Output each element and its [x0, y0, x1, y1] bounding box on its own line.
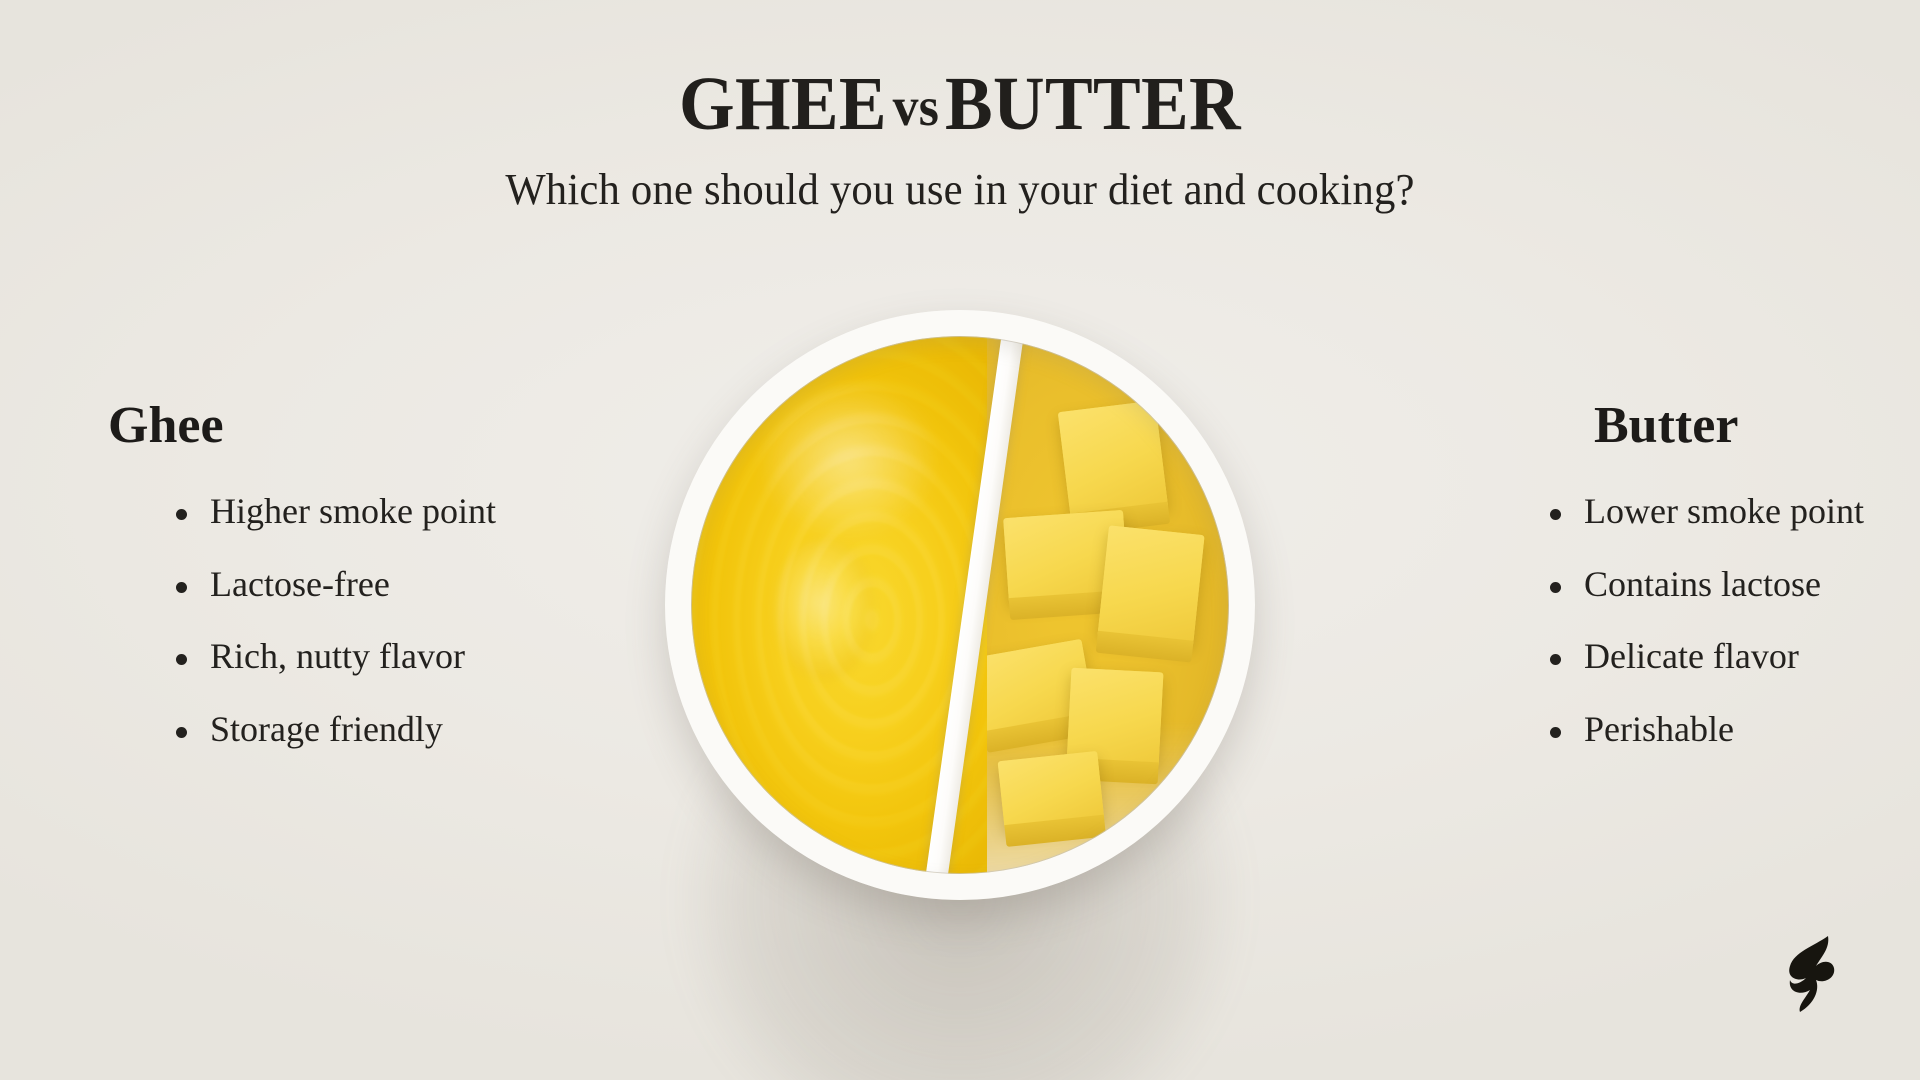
list-item-label: Storage friendly: [210, 709, 443, 749]
bowl-interior: [691, 336, 1229, 874]
bullet-dot-icon: [176, 727, 187, 738]
list-item: Perishable: [1542, 710, 1812, 750]
list-item: Rich, nutty flavor: [168, 637, 668, 677]
header: GHEEvsBUTTER Which one should you use in…: [0, 66, 1920, 215]
butter-cube: [998, 751, 1105, 831]
bullet-list-butter: Lower smoke point Contains lactose Delic…: [1542, 492, 1812, 749]
column-heading-butter: Butter: [1594, 400, 1812, 452]
flame-swirl-logo: [1784, 934, 1846, 1012]
list-item-label: Delicate flavor: [1584, 636, 1799, 676]
list-item-label: Lower smoke point: [1584, 491, 1864, 531]
ghee-swirl: [774, 540, 875, 680]
bullet-dot-icon: [176, 582, 187, 593]
bullet-list-ghee: Higher smoke point Lactose-free Rich, nu…: [168, 492, 668, 749]
list-item-label: Rich, nutty flavor: [210, 636, 465, 676]
bullet-dot-icon: [1550, 509, 1561, 520]
column-heading-ghee: Ghee: [108, 400, 668, 452]
column-butter: Butter Lower smoke point Contains lactos…: [1252, 400, 1812, 782]
split-bowl-image: [665, 310, 1255, 900]
page-title: GHEEvsBUTTER: [58, 66, 1863, 142]
column-ghee: Ghee Higher smoke point Lactose-free Ric…: [108, 400, 668, 782]
list-item: Delicate flavor: [1542, 637, 1812, 677]
ghee-gloss: [756, 379, 939, 540]
list-item-label: Perishable: [1584, 709, 1734, 749]
infographic-stage: GHEEvsBUTTER Which one should you use in…: [0, 0, 1920, 1080]
title-part-butter: BUTTER: [945, 62, 1241, 146]
list-item: Lower smoke point: [1542, 492, 1812, 532]
bullet-dot-icon: [1550, 582, 1561, 593]
page-subtitle: Which one should you use in your diet an…: [29, 164, 1891, 215]
butter-cube: [1098, 525, 1205, 646]
list-item-label: Higher smoke point: [210, 491, 496, 531]
list-item: Lactose-free: [168, 565, 668, 605]
bullet-dot-icon: [176, 654, 187, 665]
bowl: [665, 310, 1255, 900]
butter-cube: [1058, 400, 1168, 519]
list-item: Higher smoke point: [168, 492, 668, 532]
title-vs: vs: [887, 76, 945, 137]
bullet-dot-icon: [176, 509, 187, 520]
bullet-dot-icon: [1550, 727, 1561, 738]
list-item-label: Contains lactose: [1584, 564, 1821, 604]
list-item-label: Lactose-free: [210, 564, 390, 604]
butter-half: [987, 336, 1229, 874]
title-part-ghee: GHEE: [679, 62, 887, 146]
list-item: Contains lactose: [1542, 565, 1812, 605]
list-item: Storage friendly: [168, 710, 668, 750]
bullet-dot-icon: [1550, 654, 1561, 665]
